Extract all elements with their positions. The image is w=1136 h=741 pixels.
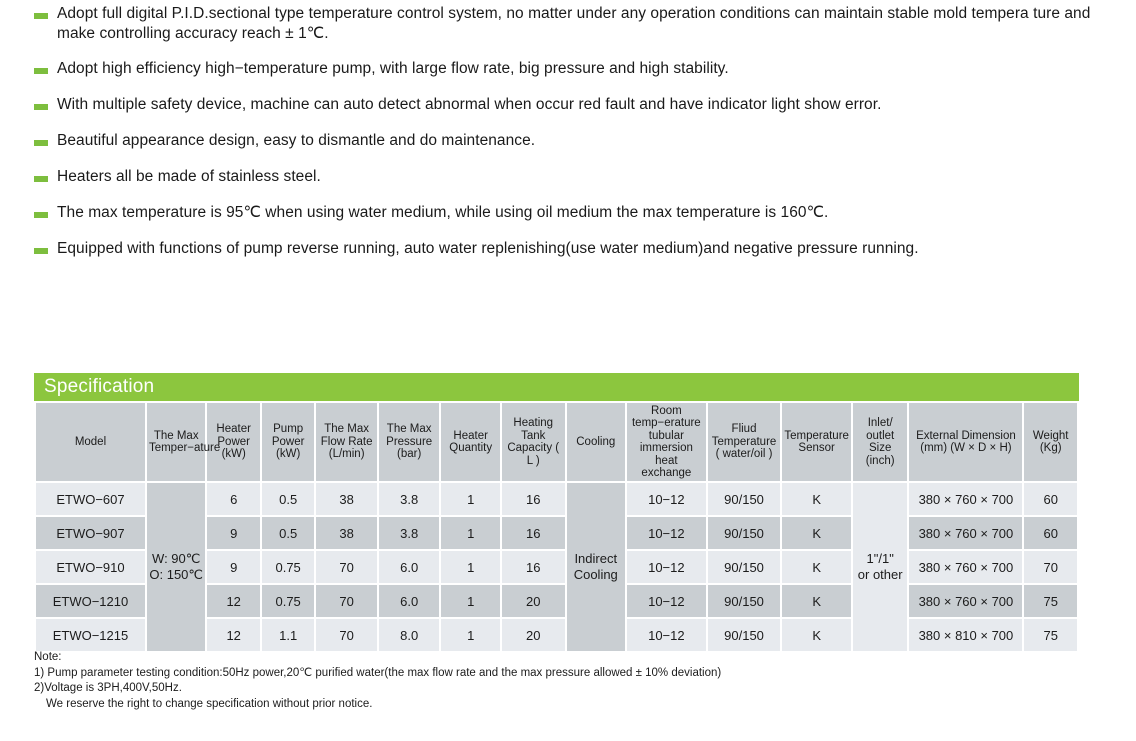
cell-max-pressure: 6.0 xyxy=(379,551,440,583)
cell-pump-power: 0.5 xyxy=(262,517,314,549)
th-pump-power: Pump Power (kW) xyxy=(262,403,314,481)
cell-model: ETWO−907 xyxy=(36,517,145,549)
table-row: ETWO−607 W: 90℃ O: 150℃ 6 0.5 38 3.8 1 1… xyxy=(36,483,1077,515)
list-item: Adopt high efficiency high−temperature p… xyxy=(34,59,1106,79)
th-heater-quantity: Heater Quantity xyxy=(441,403,500,481)
dash-bullet-icon xyxy=(34,248,48,254)
cell-inlet-outlet-merged: 1"/1" or other xyxy=(853,483,907,651)
cell-max-temperature-merged: W: 90℃ O: 150℃ xyxy=(147,483,206,651)
th-fluid-temperature: Fliud Temperature ( water/oil ) xyxy=(708,403,781,481)
cell-cooling-merged: Indirect Cooling xyxy=(567,483,626,651)
cell-heater-power: 12 xyxy=(207,619,259,651)
feature-text: With multiple safety device, machine can… xyxy=(57,95,1106,115)
cell-max-flow-rate: 38 xyxy=(316,483,377,515)
cell-room-temp-exchange: 10−12 xyxy=(627,619,706,651)
cell-heater-quantity: 1 xyxy=(441,585,500,617)
cell-temperature-sensor: K xyxy=(782,483,851,515)
th-heating-tank-capacity: Heating Tank Capacity ( L ) xyxy=(502,403,565,481)
dash-bullet-icon xyxy=(34,176,48,182)
specification-table: Model The Max Temper−ature Heater Power … xyxy=(34,401,1079,653)
notes-line-3: We reserve the right to change specifica… xyxy=(34,697,1094,713)
cell-weight: 70 xyxy=(1024,551,1077,583)
cell-room-temp-exchange: 10−12 xyxy=(627,483,706,515)
cell-max-pressure: 3.8 xyxy=(379,483,440,515)
cell-temperature-sensor: K xyxy=(782,517,851,549)
specification-section: Specification Model The Max Temper−ature… xyxy=(34,373,1079,653)
th-room-temp-exchange: Room temp−erature tubular immersion heat… xyxy=(627,403,706,481)
feature-text: Equipped with functions of pump reverse … xyxy=(57,239,1106,259)
th-max-pressure: The Max Pressure (bar) xyxy=(379,403,440,481)
product-spec-page: Adopt full digital P.I.D.sectional type … xyxy=(0,0,1136,741)
cell-heating-tank-capacity: 16 xyxy=(502,483,565,515)
cell-weight: 75 xyxy=(1024,585,1077,617)
th-temperature-sensor: Temperature Sensor xyxy=(782,403,851,481)
cell-external-dimension: 380 × 760 × 700 xyxy=(909,551,1022,583)
cell-weight: 60 xyxy=(1024,483,1077,515)
notes-section: Note: 1) Pump parameter testing conditio… xyxy=(34,650,1094,712)
table-body: ETWO−607 W: 90℃ O: 150℃ 6 0.5 38 3.8 1 1… xyxy=(36,483,1077,651)
cell-max-pressure: 8.0 xyxy=(379,619,440,651)
cell-model: ETWO−910 xyxy=(36,551,145,583)
cell-temperature-sensor: K xyxy=(782,551,851,583)
cell-heater-quantity: 1 xyxy=(441,517,500,549)
th-model: Model xyxy=(36,403,145,481)
cell-fluid-temperature: 90/150 xyxy=(708,585,781,617)
cell-heater-power: 9 xyxy=(207,517,259,549)
list-item: Heaters all be made of stainless steel. xyxy=(34,167,1106,187)
cell-fluid-temperature: 90/150 xyxy=(708,551,781,583)
notes-line-1: 1) Pump parameter testing condition:50Hz… xyxy=(34,666,1094,682)
th-external-dimension: External Dimension (mm) (W × D × H) xyxy=(909,403,1022,481)
list-item: Equipped with functions of pump reverse … xyxy=(34,239,1106,259)
cell-model: ETWO−607 xyxy=(36,483,145,515)
cell-heater-power: 6 xyxy=(207,483,259,515)
feature-text: Adopt high efficiency high−temperature p… xyxy=(57,59,1106,79)
cell-pump-power: 0.5 xyxy=(262,483,314,515)
cell-model: ETWO−1215 xyxy=(36,619,145,651)
cell-heating-tank-capacity: 20 xyxy=(502,619,565,651)
th-max-flow-rate: The Max Flow Rate (L/min) xyxy=(316,403,377,481)
cell-pump-power: 0.75 xyxy=(262,551,314,583)
cell-heating-tank-capacity: 16 xyxy=(502,551,565,583)
th-inlet-outlet-size: Inlet/ outlet Size (inch) xyxy=(853,403,907,481)
spec-title: Specification xyxy=(34,373,1079,401)
cell-pump-power: 1.1 xyxy=(262,619,314,651)
cell-weight: 75 xyxy=(1024,619,1077,651)
list-item: Beautiful appearance design, easy to dis… xyxy=(34,131,1106,151)
cell-external-dimension: 380 × 760 × 700 xyxy=(909,483,1022,515)
table-header: Model The Max Temper−ature Heater Power … xyxy=(36,403,1077,481)
list-item: The max temperature is 95℃ when using wa… xyxy=(34,203,1106,223)
th-weight: Weight (Kg) xyxy=(1024,403,1077,481)
feature-list: Adopt full digital P.I.D.sectional type … xyxy=(34,4,1106,274)
cell-heating-tank-capacity: 20 xyxy=(502,585,565,617)
feature-text: The max temperature is 95℃ when using wa… xyxy=(57,203,1106,223)
feature-text: Heaters all be made of stainless steel. xyxy=(57,167,1106,187)
feature-text: Adopt full digital P.I.D.sectional type … xyxy=(57,4,1106,44)
cell-heater-quantity: 1 xyxy=(441,619,500,651)
dash-bullet-icon xyxy=(34,212,48,218)
cell-fluid-temperature: 90/150 xyxy=(708,517,781,549)
cell-room-temp-exchange: 10−12 xyxy=(627,551,706,583)
cell-heater-quantity: 1 xyxy=(441,551,500,583)
notes-line-2: 2)Voltage is 3PH,400V,50Hz. xyxy=(34,681,1094,697)
cell-max-pressure: 3.8 xyxy=(379,517,440,549)
cell-heater-power: 12 xyxy=(207,585,259,617)
cell-weight: 60 xyxy=(1024,517,1077,549)
cell-max-flow-rate: 70 xyxy=(316,585,377,617)
cell-heating-tank-capacity: 16 xyxy=(502,517,565,549)
th-cooling: Cooling xyxy=(567,403,626,481)
dash-bullet-icon xyxy=(34,104,48,110)
table-header-row: Model The Max Temper−ature Heater Power … xyxy=(36,403,1077,481)
cell-external-dimension: 380 × 760 × 700 xyxy=(909,517,1022,549)
list-item: Adopt full digital P.I.D.sectional type … xyxy=(34,4,1106,44)
cell-external-dimension: 380 × 760 × 700 xyxy=(909,585,1022,617)
cell-temperature-sensor: K xyxy=(782,585,851,617)
th-max-temperature: The Max Temper−ature xyxy=(147,403,206,481)
cell-heater-power: 9 xyxy=(207,551,259,583)
cell-pump-power: 0.75 xyxy=(262,585,314,617)
cell-max-flow-rate: 70 xyxy=(316,551,377,583)
dash-bullet-icon xyxy=(34,13,48,19)
dash-bullet-icon xyxy=(34,68,48,74)
cell-fluid-temperature: 90/150 xyxy=(708,619,781,651)
notes-label: Note: xyxy=(34,650,1094,666)
list-item: With multiple safety device, machine can… xyxy=(34,95,1106,115)
feature-text: Beautiful appearance design, easy to dis… xyxy=(57,131,1106,151)
cell-external-dimension: 380 × 810 × 700 xyxy=(909,619,1022,651)
cell-room-temp-exchange: 10−12 xyxy=(627,585,706,617)
cell-temperature-sensor: K xyxy=(782,619,851,651)
cell-room-temp-exchange: 10−12 xyxy=(627,517,706,549)
cell-fluid-temperature: 90/150 xyxy=(708,483,781,515)
cell-max-pressure: 6.0 xyxy=(379,585,440,617)
cell-max-flow-rate: 70 xyxy=(316,619,377,651)
cell-max-flow-rate: 38 xyxy=(316,517,377,549)
dash-bullet-icon xyxy=(34,140,48,146)
cell-heater-quantity: 1 xyxy=(441,483,500,515)
cell-model: ETWO−1210 xyxy=(36,585,145,617)
